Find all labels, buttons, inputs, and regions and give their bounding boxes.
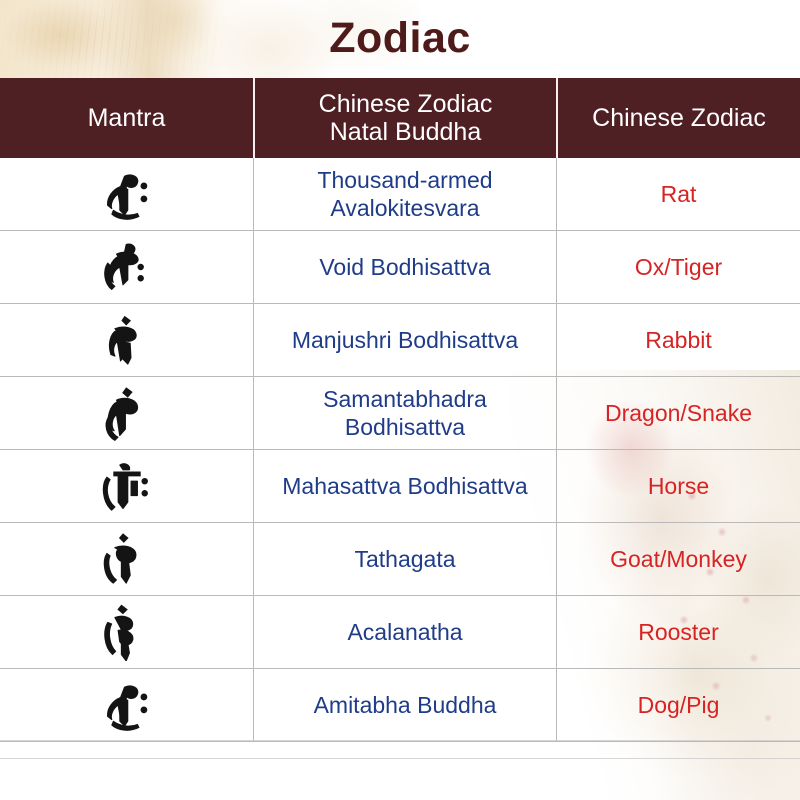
chinese-zodiac-label: Horse [644,472,713,500]
chinese-zodiac-label: Goat/Monkey [606,545,751,573]
column-header-mantra-label: Mantra [88,104,166,132]
natal-buddha-cell: Thousand-armedAvalokitesvara [253,158,556,230]
zodiac-table: Mantra Chinese Zodiac Natal Buddha Chine… [0,78,800,742]
chinese-zodiac-label: Ox/Tiger [631,253,726,281]
table-row: Manjushri BodhisattvaRabbit [0,304,800,377]
natal-buddha-label: Tathagata [346,545,463,573]
mantra-cell [0,669,253,741]
column-header-natal-buddha-line2: Natal Buddha [330,118,482,146]
chinese-zodiac-label: Rooster [634,618,723,646]
chinese-zodiac-label: Dragon/Snake [601,399,756,427]
chinese-zodiac-label: Rabbit [641,326,715,354]
natal-buddha-cell: Amitabha Buddha [253,669,556,741]
natal-buddha-cell: SamantabhadraBodhisattva [253,377,556,449]
column-header-natal-buddha-line1: Chinese Zodiac [319,90,493,118]
natal-buddha-label: SamantabhadraBodhisattva [315,385,495,441]
chinese-zodiac-cell: Rat [556,158,800,230]
natal-buddha-label: Acalanatha [339,618,470,646]
natal-buddha-line2: Bodhisattva [345,414,465,440]
natal-buddha-label: Void Bodhisattva [311,253,498,281]
mantra-cell [0,304,253,376]
table-row: Void BodhisattvaOx/Tiger [0,231,800,304]
siddham-seed-syllable-hrih-icon [97,165,157,223]
chinese-zodiac-cell: Dragon/Snake [556,377,800,449]
chinese-zodiac-cell: Goat/Monkey [556,523,800,595]
chinese-zodiac-label: Dog/Pig [634,691,724,719]
page-title: Zodiac [0,8,800,68]
siddham-seed-syllable-ham-icon [97,603,157,661]
chinese-zodiac-label: Rat [657,180,701,208]
zodiac-table-page: Zodiac Mantra Chinese Zodiac Natal Buddh… [0,0,800,800]
natal-buddha-cell: Mahasattva Bodhisattva [253,450,556,522]
table-row: Amitabha BuddhaDog/Pig [0,669,800,742]
table-row: SamantabhadraBodhisattvaDragon/Snake [0,377,800,450]
column-header-chinese-zodiac: Chinese Zodiac [556,78,800,158]
mantra-cell [0,377,253,449]
chinese-zodiac-cell: Rabbit [556,304,800,376]
table-row: TathagataGoat/Monkey [0,523,800,596]
chinese-zodiac-cell: Horse [556,450,800,522]
tail-rule [0,758,800,759]
table-row: Mahasattva BodhisattvaHorse [0,450,800,523]
siddham-seed-syllable-sa-icon [97,457,157,515]
mantra-cell [0,450,253,522]
natal-buddha-cell: Tathagata [253,523,556,595]
table-header-row: Mantra Chinese Zodiac Natal Buddha Chine… [0,78,800,158]
natal-buddha-label: Thousand-armedAvalokitesvara [309,166,500,222]
siddham-seed-syllable-vam-icon [97,530,157,588]
chinese-zodiac-cell: Rooster [556,596,800,668]
siddham-seed-syllable-ah-icon [97,384,157,442]
column-header-natal-buddha: Chinese Zodiac Natal Buddha [253,78,556,158]
natal-buddha-line2: Avalokitesvara [330,195,479,221]
siddham-seed-syllable-man-icon [97,311,157,369]
natal-buddha-label: Amitabha Buddha [306,691,505,719]
mantra-cell [0,158,253,230]
natal-buddha-cell: Acalanatha [253,596,556,668]
siddham-seed-syllable-hrih-amitabha-icon [97,676,157,734]
natal-buddha-label: Mahasattva Bodhisattva [274,472,535,500]
chinese-zodiac-cell: Dog/Pig [556,669,800,741]
tail-rule [0,740,800,741]
mantra-cell [0,231,253,303]
natal-buddha-cell: Void Bodhisattva [253,231,556,303]
mantra-cell [0,596,253,668]
table-body: Thousand-armedAvalokitesvaraRatVoid Bodh… [0,158,800,742]
table-row: AcalanathaRooster [0,596,800,669]
table-row: Thousand-armedAvalokitesvaraRat [0,158,800,231]
column-header-mantra: Mantra [0,78,253,158]
natal-buddha-line1: Samantabhadra [323,386,487,412]
mantra-cell [0,523,253,595]
column-header-natal-buddha-label: Chinese Zodiac Natal Buddha [319,90,493,146]
siddham-seed-syllable-tram-icon [97,238,157,296]
natal-buddha-line1: Thousand-armed [317,167,492,193]
column-header-chinese-zodiac-label: Chinese Zodiac [592,104,766,132]
natal-buddha-label: Manjushri Bodhisattva [284,326,526,354]
chinese-zodiac-cell: Ox/Tiger [556,231,800,303]
natal-buddha-cell: Manjushri Bodhisattva [253,304,556,376]
